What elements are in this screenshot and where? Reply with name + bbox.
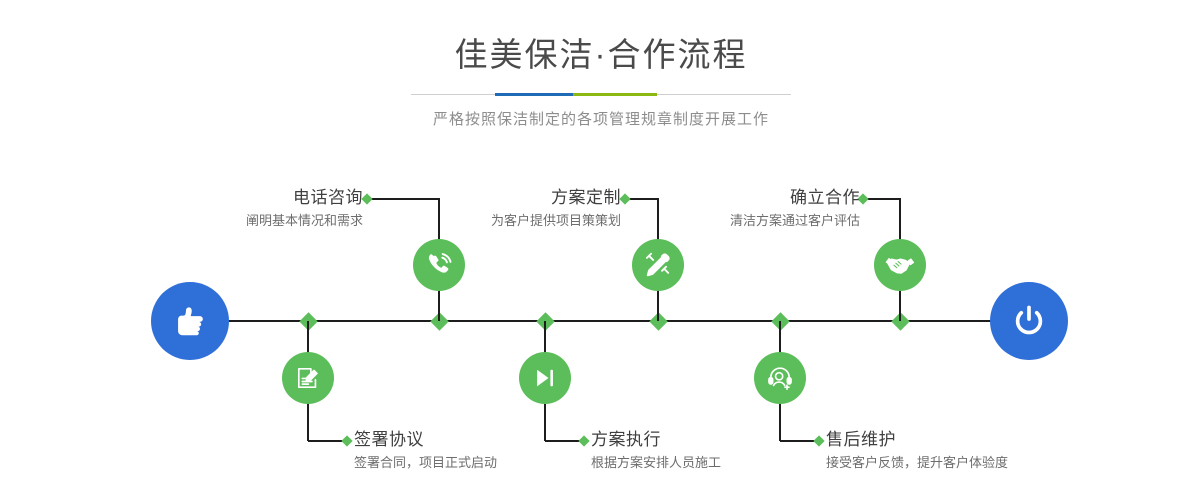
headset-support-icon <box>766 364 794 392</box>
flow-end-node[interactable] <box>990 282 1068 360</box>
document-pen-icon <box>294 364 322 392</box>
step-icon-badge[interactable] <box>874 239 926 291</box>
step-label: 确立合作 清洁方案通过客户评估 <box>660 187 860 231</box>
play-execute-icon <box>531 364 559 392</box>
connector-horizontal <box>866 198 900 200</box>
timeline-axis <box>210 320 1000 322</box>
flow-start-node[interactable] <box>151 282 229 360</box>
power-icon <box>1008 300 1050 342</box>
page-title: 佳美保洁·合作流程 <box>0 34 1202 76</box>
step-description: 接受客户反馈，提升客户体验度 <box>826 453 1156 473</box>
header: 佳美保洁·合作流程 严格按照保洁制定的各项管理规章制度开展工作 <box>0 34 1202 131</box>
step-description: 为客户提供项目策策划 <box>400 211 621 231</box>
step-description: 清洁方案通过客户评估 <box>660 211 860 231</box>
connector-tip <box>361 193 372 204</box>
title-divider <box>411 90 791 100</box>
step-description: 阐明基本情况和需求 <box>118 211 363 231</box>
step-icon-badge[interactable] <box>754 352 806 404</box>
step-icon-badge[interactable] <box>632 239 684 291</box>
handshake-icon <box>885 250 915 280</box>
divider-segment-blue <box>495 93 573 96</box>
page-subtitle: 严格按照保洁制定的各项管理规章制度开展工作 <box>0 109 1202 131</box>
cooperation-flow-infographic: 佳美保洁·合作流程 严格按照保洁制定的各项管理规章制度开展工作 <box>0 0 1202 502</box>
step-icon-badge[interactable] <box>519 352 571 404</box>
connector-horizontal <box>545 440 581 442</box>
connector-horizontal <box>308 440 344 442</box>
step-label: 售后维护 接受客户反馈，提升客户体验度 <box>826 429 1156 473</box>
connector-tip <box>341 435 352 446</box>
step-title: 电话咨询 <box>118 187 363 209</box>
connector-horizontal <box>628 198 658 200</box>
step-icon-badge[interactable] <box>413 239 465 291</box>
step-label: 电话咨询 阐明基本情况和需求 <box>118 187 363 231</box>
connector-horizontal <box>780 440 816 442</box>
step-title: 确立合作 <box>660 187 860 209</box>
pointing-hand-icon <box>168 299 212 343</box>
step-label: 方案定制 为客户提供项目策策划 <box>400 187 621 231</box>
phone-call-icon <box>424 250 454 280</box>
pencil-plan-icon <box>643 250 673 280</box>
step-title: 方案定制 <box>400 187 621 209</box>
divider-segment-green <box>573 93 657 96</box>
connector-tip <box>619 193 630 204</box>
step-icon-badge[interactable] <box>282 352 334 404</box>
step-title: 售后维护 <box>826 429 1156 451</box>
